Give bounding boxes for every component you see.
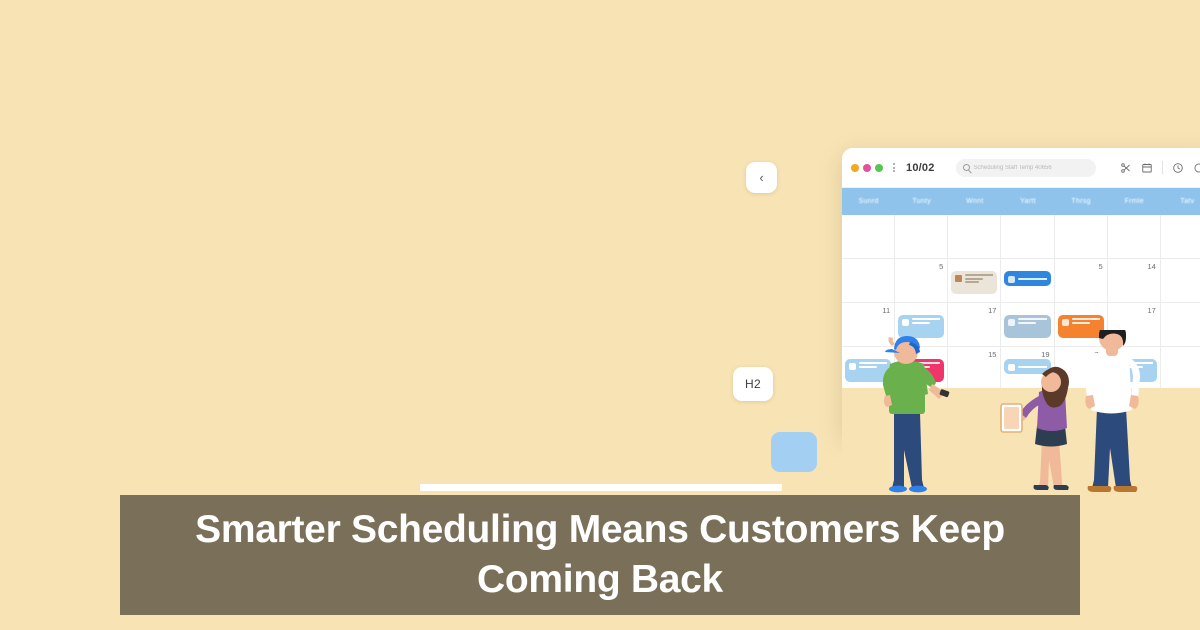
calendar-day-cell[interactable] bbox=[842, 215, 895, 259]
weekday-label: Tatv bbox=[1161, 188, 1200, 215]
weekday-header-row: Sunrd Tunty Wnnt Yartt Thrsg Frmle Tatv bbox=[842, 188, 1200, 215]
day-number: 11 bbox=[882, 306, 890, 315]
maximize-dot-icon[interactable] bbox=[875, 164, 883, 172]
calendar-day-cell[interactable] bbox=[842, 259, 895, 303]
clock-icon[interactable] bbox=[1172, 162, 1184, 174]
window-traffic-lights[interactable] bbox=[851, 164, 883, 172]
calendar-day-cell[interactable] bbox=[895, 215, 948, 259]
kebab-menu-icon[interactable] bbox=[893, 163, 895, 172]
title-banner: Smarter Scheduling Means Customers Keep … bbox=[120, 495, 1080, 615]
weekday-label: Tunty bbox=[895, 188, 948, 215]
event-icon bbox=[1008, 319, 1015, 326]
search-input[interactable]: Scheduling Staff Temp 40656 bbox=[956, 159, 1096, 177]
people-illustration bbox=[842, 330, 1200, 512]
calendar-day-cell[interactable] bbox=[1108, 215, 1161, 259]
weekday-label: Yartt bbox=[1001, 188, 1054, 215]
calendar-day-cell[interactable] bbox=[948, 215, 1001, 259]
calendar-day-cell[interactable]: 13 bbox=[1161, 259, 1200, 303]
day-number: 14 bbox=[1148, 262, 1156, 271]
calendar-icon[interactable] bbox=[1141, 162, 1153, 174]
calendar-day-cell[interactable]: 5 bbox=[1055, 259, 1108, 303]
calendar-day-cell[interactable]: 5 bbox=[895, 259, 948, 303]
weekday-label: Thrsg bbox=[1055, 188, 1108, 215]
event-icon bbox=[1008, 276, 1015, 283]
minimize-dot-icon[interactable] bbox=[863, 164, 871, 172]
search-placeholder: Scheduling Staff Temp 40656 bbox=[974, 165, 1052, 171]
event-label bbox=[912, 318, 940, 324]
weekday-label: Sunrd bbox=[842, 188, 895, 215]
event-label bbox=[1018, 278, 1046, 280]
event-icon bbox=[902, 319, 909, 326]
toolbar-divider bbox=[1162, 161, 1163, 174]
page-title: Smarter Scheduling Means Customers Keep … bbox=[134, 505, 1066, 605]
event-label bbox=[965, 274, 993, 283]
day-number: 17 bbox=[1148, 306, 1156, 315]
event-label bbox=[1072, 318, 1100, 324]
title-divider bbox=[420, 484, 782, 491]
chevron-left-icon: ‹ bbox=[759, 170, 763, 185]
day-number: 17 bbox=[988, 306, 996, 315]
day-number: 5 bbox=[939, 262, 943, 271]
weekday-label: Wnnt bbox=[948, 188, 1001, 215]
heading-tag-button[interactable]: H2 bbox=[733, 367, 773, 401]
calendar-event-chip[interactable] bbox=[1004, 271, 1050, 286]
close-dot-icon[interactable] bbox=[851, 164, 859, 172]
circle-icon[interactable] bbox=[1193, 162, 1200, 174]
calendar-day-cell[interactable]: 14 bbox=[1108, 259, 1161, 303]
back-button[interactable]: ‹ bbox=[746, 162, 777, 193]
toolbar-icon-group bbox=[1120, 161, 1200, 174]
calendar-day-cell[interactable] bbox=[1055, 215, 1108, 259]
heading-tag-label: H2 bbox=[745, 377, 761, 391]
calendar-event-chip[interactable] bbox=[951, 271, 997, 294]
event-icon bbox=[1062, 319, 1069, 326]
color-swatch[interactable] bbox=[771, 432, 817, 472]
calendar-day-cell[interactable] bbox=[1001, 215, 1054, 259]
event-icon bbox=[955, 275, 962, 282]
day-number: 5 bbox=[1099, 262, 1103, 271]
scissors-icon[interactable] bbox=[1120, 162, 1132, 174]
calendar-date-label: 10/02 bbox=[906, 162, 935, 174]
calendar-day-cell[interactable] bbox=[1161, 215, 1200, 259]
calendar-day-cell[interactable] bbox=[948, 259, 1001, 303]
search-icon bbox=[963, 164, 970, 171]
calendar-day-cell[interactable] bbox=[1001, 259, 1054, 303]
weekday-label: Frmle bbox=[1108, 188, 1161, 215]
calendar-toolbar: 10/02 Scheduling Staff Temp 40656 bbox=[842, 148, 1200, 188]
event-label bbox=[1018, 318, 1046, 324]
